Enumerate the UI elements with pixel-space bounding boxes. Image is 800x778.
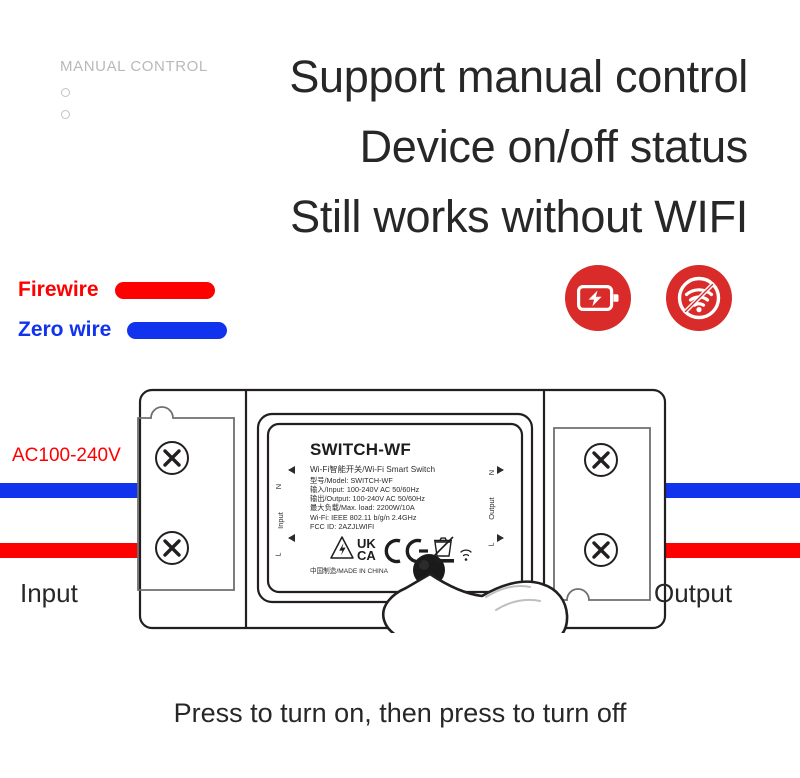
device-label-panel: SWITCH-WF Wi-Fi智能开关/Wi-Fi Smart Switch 型…	[310, 440, 500, 531]
headline-1: Support manual control	[48, 42, 748, 112]
left-marking-input: Input	[276, 512, 285, 529]
warning-triangle-icon	[331, 537, 353, 558]
legend-label-firewire: Firewire	[18, 278, 99, 302]
right-marking-l: L	[487, 542, 496, 546]
spec-max-load: 最大负载/Max. load: 2200W/10A	[310, 503, 500, 512]
weee-bin-icon	[433, 537, 453, 557]
legend-item-firewire: Firewire	[18, 278, 215, 302]
spec-fcc-id: FCC ID: 2AZJLWIFI	[310, 522, 500, 531]
instruction-caption: Press to turn on, then press to turn off	[0, 698, 800, 729]
device-subtitle: Wi-Fi智能开关/Wi-Fi Smart Switch	[310, 465, 500, 474]
spec-model: 型号/Model: SWITCH-WF	[310, 476, 500, 485]
spec-output: 输出/Output: 100-240V AC 50/60Hz	[310, 494, 500, 503]
legend-swatch-zero-wire	[127, 322, 227, 339]
right-marking-output: Output	[487, 497, 496, 520]
spec-wifi: Wi-Fi: IEEE 802.11 b/g/n 2.4GHz	[310, 513, 500, 522]
made-in-china-text: 中国制造/MADE IN CHINA	[310, 565, 388, 575]
battery-power-icon	[565, 265, 631, 331]
voltage-label: AC100-240V	[12, 445, 121, 467]
output-label: Output	[654, 578, 732, 609]
device-model-title: SWITCH-WF	[310, 440, 500, 460]
headline-3: Still works without WIFI	[48, 182, 748, 252]
no-wifi-icon	[666, 265, 732, 331]
right-marking-n: N	[487, 470, 496, 475]
headline-2: Device on/off status	[48, 112, 748, 182]
left-marking-l: L	[274, 552, 283, 556]
legend-swatch-firewire	[115, 282, 215, 299]
wifi-icon	[461, 550, 471, 555]
input-neutral-wire	[0, 483, 148, 498]
spec-input: 输入/Input: 100-240V AC 50/60Hz	[310, 485, 500, 494]
legend-label-zero-wire: Zero wire	[18, 318, 111, 342]
input-live-wire	[0, 543, 148, 558]
product-infographic: MANUAL CONTROL Support manual control De…	[0, 0, 800, 778]
svg-text:CA: CA	[357, 548, 376, 563]
input-label: Input	[20, 578, 78, 609]
headline-group: Support manual control Device on/off sta…	[48, 42, 748, 252]
left-marking-n: N	[274, 484, 283, 489]
legend-item-zero-wire: Zero wire	[18, 318, 227, 342]
